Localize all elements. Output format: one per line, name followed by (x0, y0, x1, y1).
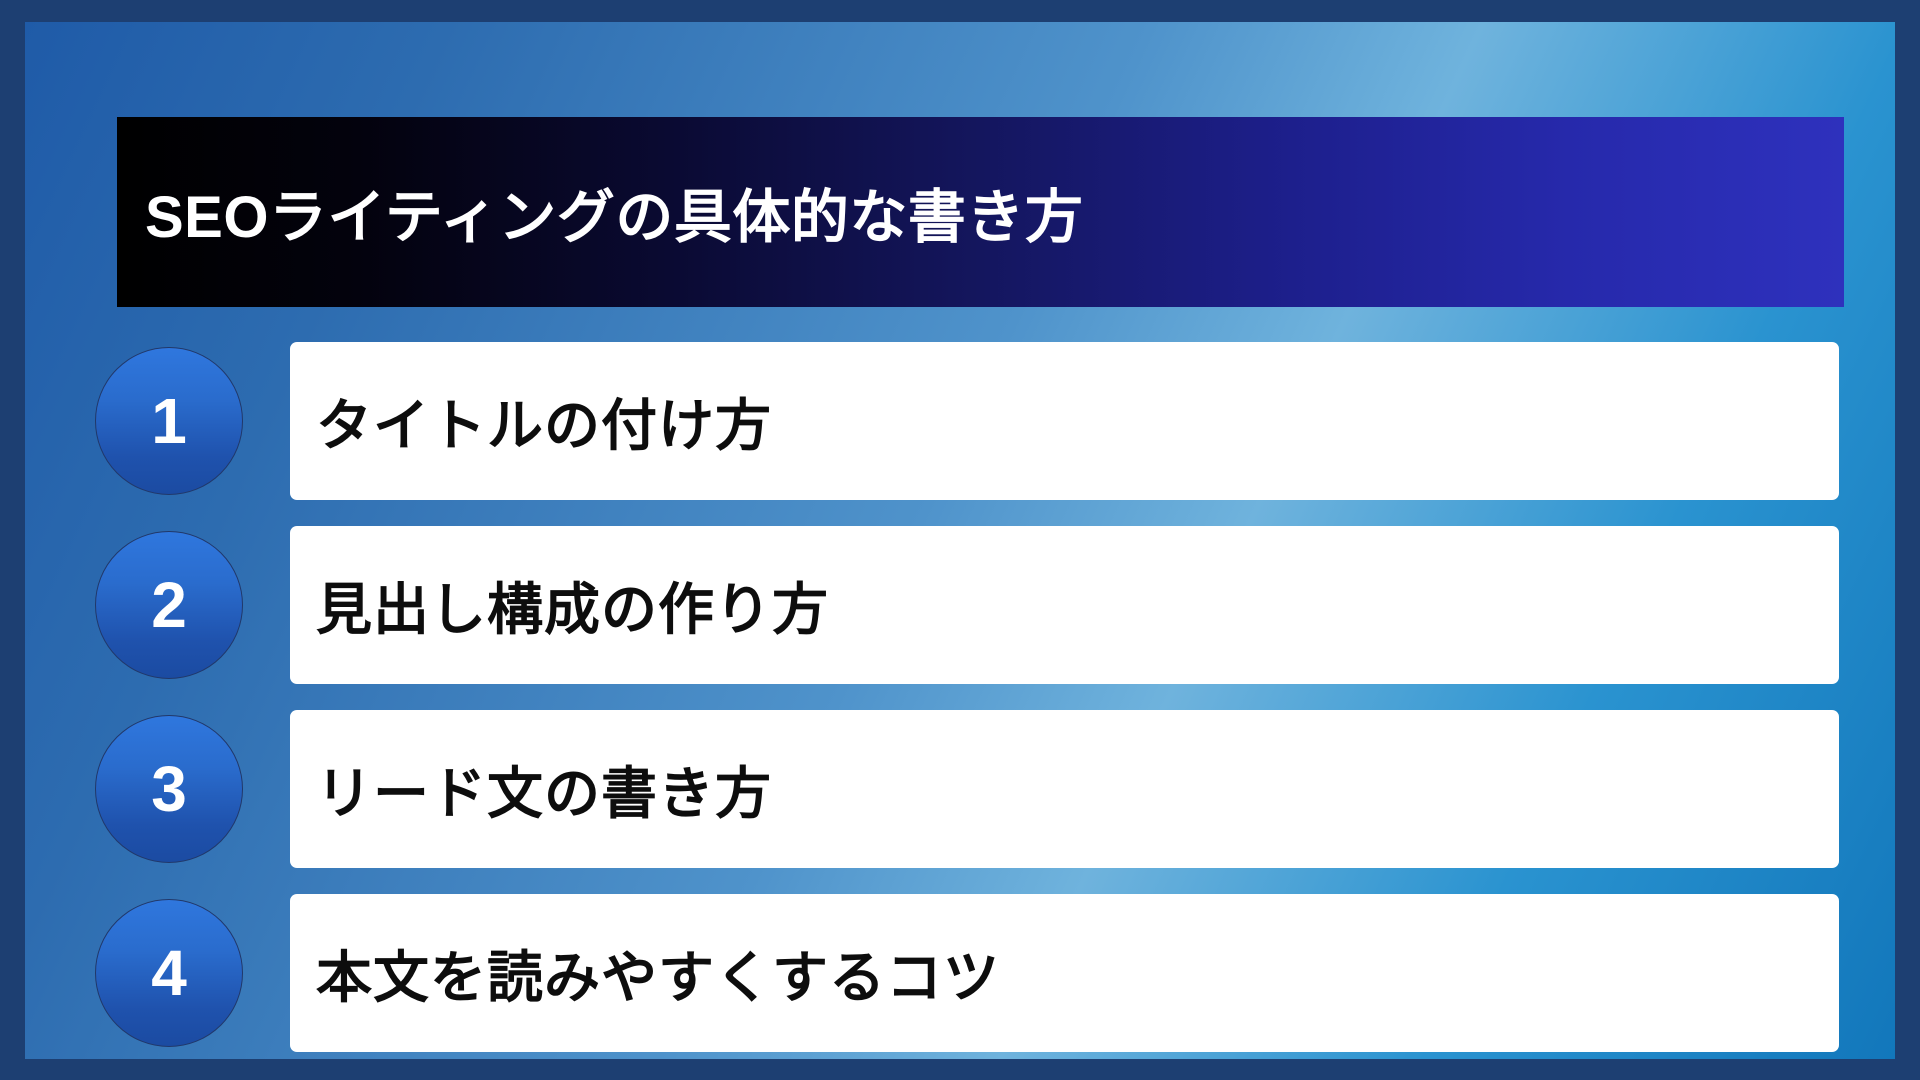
list-item[interactable]: 3 リード文の書き方 (25, 710, 1895, 882)
slide-panel: SEOライティングの具体的な書き方 1 タイトルの付け方 2 見出し構成の作り方 (25, 22, 1895, 1059)
step-card-4[interactable]: 本文を読みやすくするコツ (290, 894, 1839, 1052)
step-number: 2 (151, 573, 187, 637)
step-number: 3 (151, 757, 187, 821)
step-card-1[interactable]: タイトルの付け方 (290, 342, 1839, 500)
step-label: 見出し構成の作り方 (316, 565, 829, 646)
step-badge-2: 2 (95, 531, 243, 679)
list-item[interactable]: 2 見出し構成の作り方 (25, 526, 1895, 698)
list-item[interactable]: 4 本文を読みやすくするコツ (25, 894, 1895, 1066)
step-label: 本文を読みやすくするコツ (316, 933, 1000, 1014)
page-title: SEOライティングの具体的な書き方 (145, 170, 1083, 254)
step-card-3[interactable]: リード文の書き方 (290, 710, 1839, 868)
step-number: 4 (151, 941, 187, 1005)
step-label: タイトルの付け方 (316, 381, 772, 462)
step-badge-4: 4 (95, 899, 243, 1047)
step-card-2[interactable]: 見出し構成の作り方 (290, 526, 1839, 684)
slide-title-bar: SEOライティングの具体的な書き方 (117, 117, 1844, 307)
step-number: 1 (151, 389, 187, 453)
step-badge-1: 1 (95, 347, 243, 495)
numbered-list: 1 タイトルの付け方 2 見出し構成の作り方 3 リード文の (25, 342, 1895, 1078)
step-label: リード文の書き方 (316, 749, 772, 830)
step-badge-3: 3 (95, 715, 243, 863)
slide-root: SEOライティングの具体的な書き方 1 タイトルの付け方 2 見出し構成の作り方 (0, 0, 1920, 1080)
list-item[interactable]: 1 タイトルの付け方 (25, 342, 1895, 514)
